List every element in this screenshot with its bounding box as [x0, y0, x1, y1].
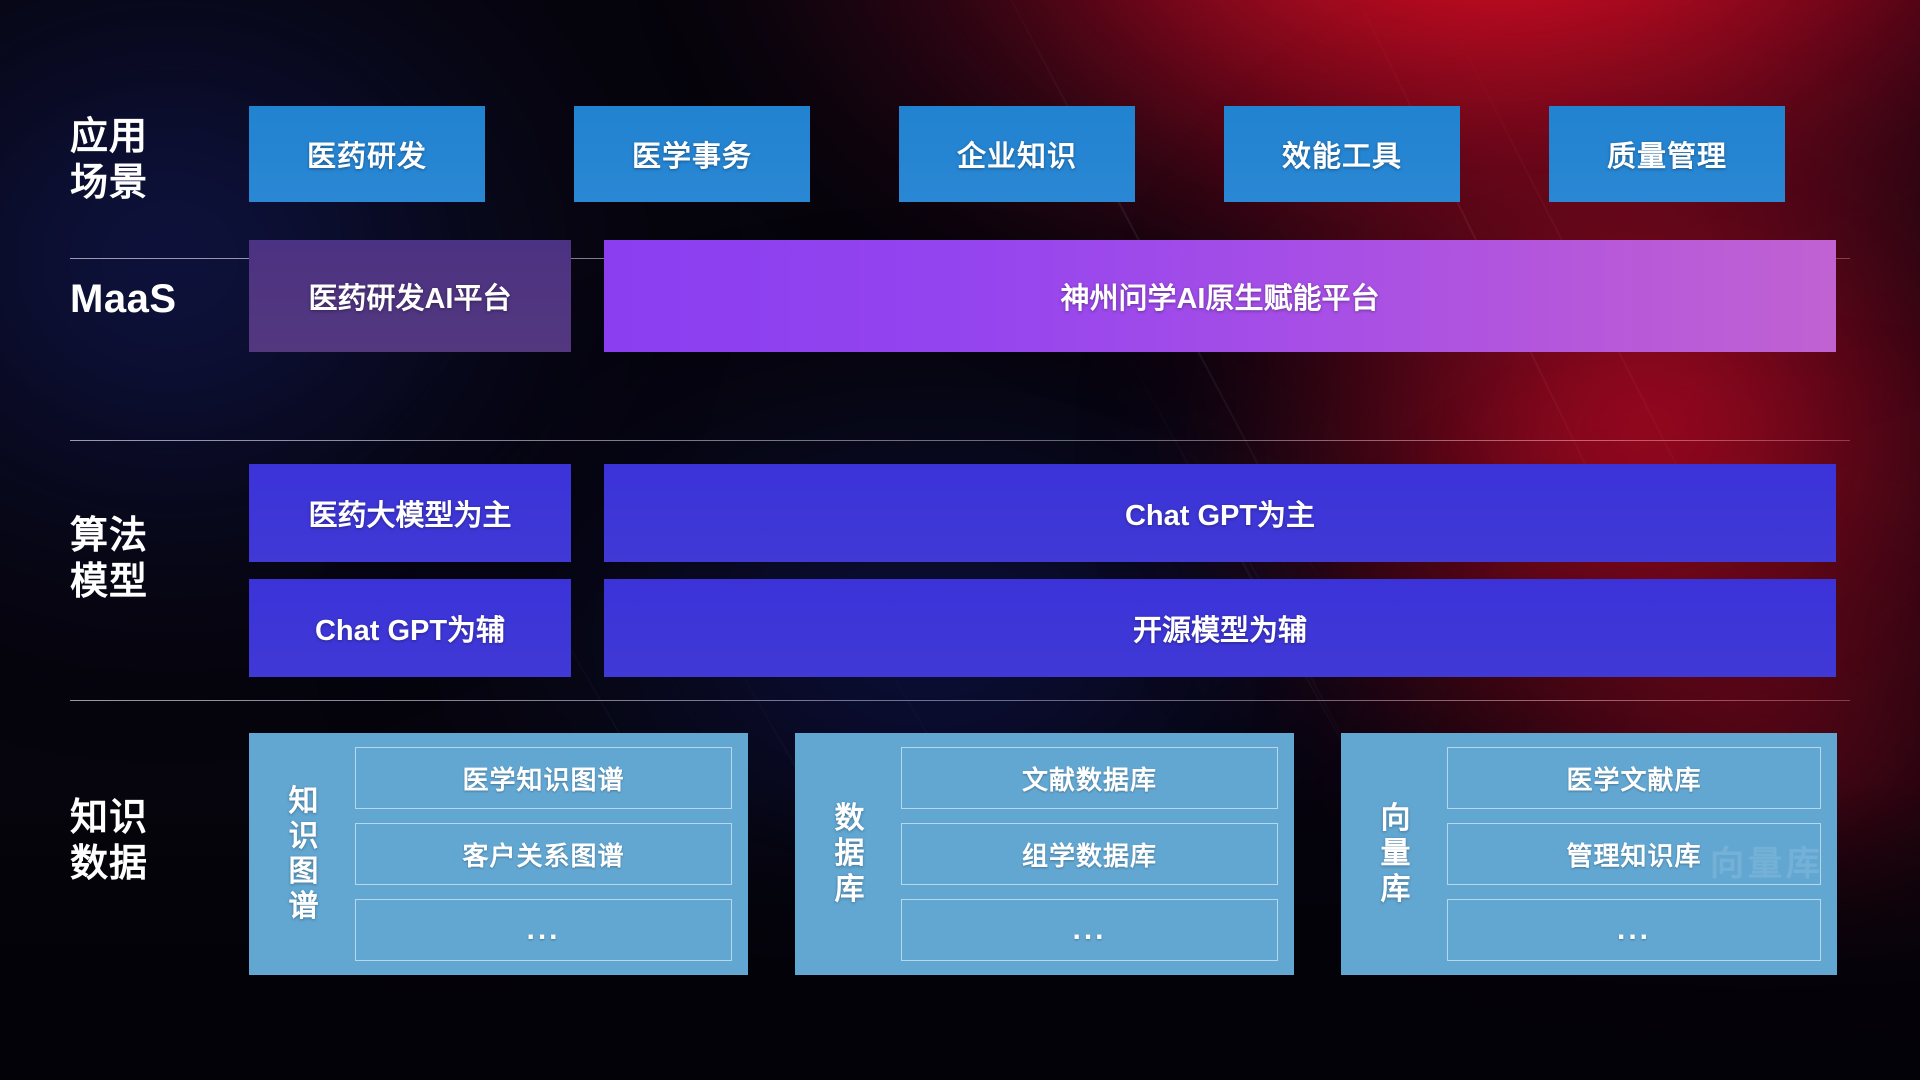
divider-algorithm-knowledge — [70, 700, 1850, 701]
algorithm-card-right-1[interactable]: Chat GPT为主 — [604, 464, 1836, 562]
knowledge-panel-1-items: 医学知识图谱 客户关系图谱 ... — [343, 747, 732, 961]
knowledge-panel-2[interactable]: 数据库 文献数据库 组学数据库 ... — [795, 733, 1294, 975]
app-card-5[interactable]: 质量管理 — [1549, 106, 1785, 202]
knowledge-panel-3-items: 医学文献库 管理知识库 ... — [1435, 747, 1821, 961]
maas-card-right[interactable]: 神州问学AI原生赋能平台 — [604, 240, 1836, 352]
knowledge-panel-3[interactable]: 向量库 医学文献库 管理知识库 ... — [1341, 733, 1837, 975]
app-card-3[interactable]: 企业知识 — [899, 106, 1135, 202]
knowledge-panel-3-item-1[interactable]: 医学文献库 — [1447, 747, 1821, 809]
knowledge-panel-2-item-2[interactable]: 组学数据库 — [901, 823, 1278, 885]
knowledge-panel-1-item-1[interactable]: 医学知识图谱 — [355, 747, 732, 809]
maas-card-left[interactable]: 医药研发AI平台 — [249, 240, 571, 352]
knowledge-panel-1-item-2[interactable]: 客户关系图谱 — [355, 823, 732, 885]
knowledge-panel-2-item-3[interactable]: ... — [901, 899, 1278, 961]
algorithm-card-left-1[interactable]: 医药大模型为主 — [249, 464, 571, 562]
knowledge-panel-2-item-1[interactable]: 文献数据库 — [901, 747, 1278, 809]
knowledge-panel-1[interactable]: 知识图谱 医学知识图谱 客户关系图谱 ... — [249, 733, 748, 975]
row-label-application: 应用场景 — [70, 114, 210, 207]
knowledge-panel-1-title: 知识图谱 — [265, 747, 343, 961]
knowledge-panel-2-title: 数据库 — [811, 747, 889, 961]
knowledge-panel-3-title: 向量库 — [1357, 747, 1435, 961]
row-label-algorithm: 算法模型 — [70, 513, 210, 606]
knowledge-panel-1-item-3[interactable]: ... — [355, 899, 732, 961]
app-card-4[interactable]: 效能工具 — [1224, 106, 1460, 202]
knowledge-panel-3-item-3[interactable]: ... — [1447, 899, 1821, 961]
app-card-2[interactable]: 医学事务 — [574, 106, 810, 202]
algorithm-card-left-2[interactable]: Chat GPT为辅 — [249, 579, 571, 677]
row-label-maas: MaaS — [70, 275, 210, 324]
algorithm-card-right-2[interactable]: 开源模型为辅 — [604, 579, 1836, 677]
knowledge-panel-3-item-2[interactable]: 管理知识库 — [1447, 823, 1821, 885]
knowledge-panel-2-items: 文献数据库 组学数据库 ... — [889, 747, 1278, 961]
divider-maas-algorithm — [70, 440, 1850, 441]
app-card-1[interactable]: 医药研发 — [249, 106, 485, 202]
row-label-knowledge: 知识数据 — [70, 795, 210, 888]
